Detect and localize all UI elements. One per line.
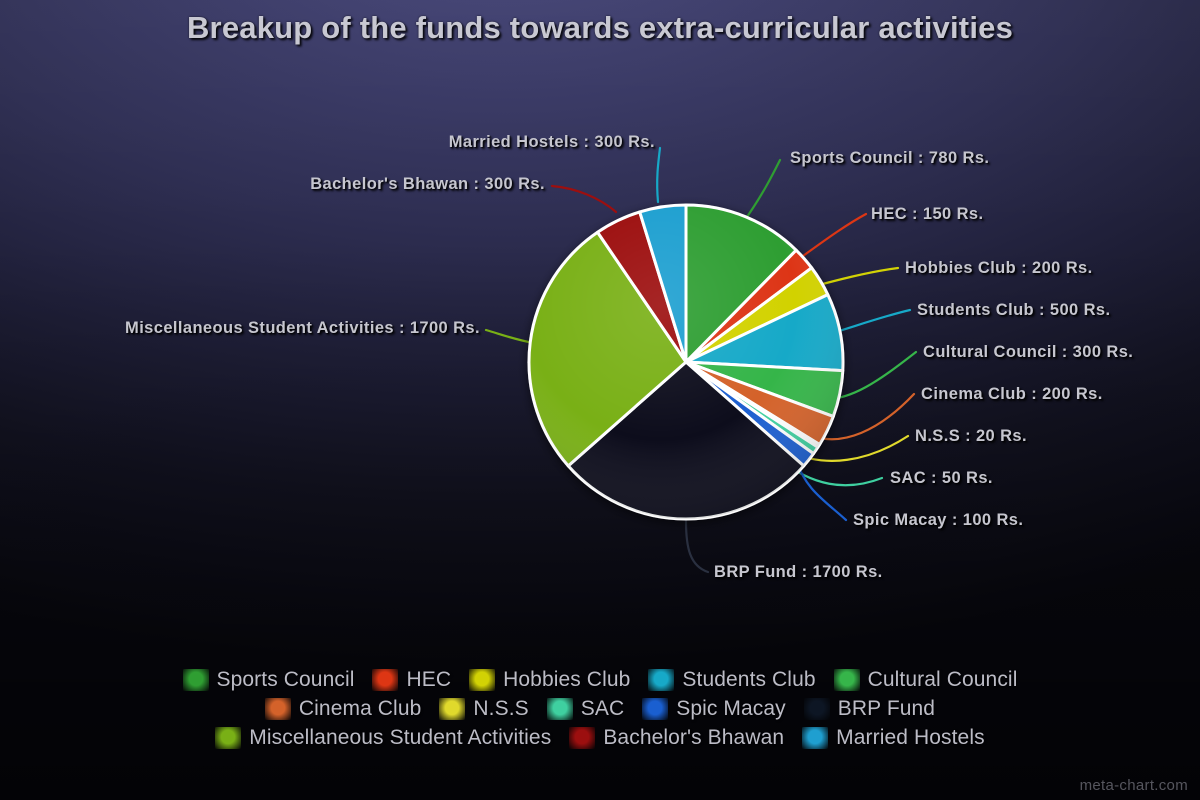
callout-label-married_hostels: Married Hostels : 300 Rs.: [449, 133, 655, 152]
legend-item[interactable]: SAC: [547, 697, 624, 721]
legend-label: BRP Fund: [838, 697, 935, 721]
legend: Sports CouncilHECHobbies ClubStudents Cl…: [0, 668, 1200, 750]
legend-item[interactable]: Sports Council: [183, 668, 355, 692]
legend-label: Miscellaneous Student Activities: [249, 726, 551, 750]
legend-color-swatch: [265, 698, 291, 720]
callout-label-bachelors_bhawan: Bachelor's Bhawan : 300 Rs.: [310, 175, 545, 194]
legend-color-swatch: [569, 727, 595, 749]
legend-item[interactable]: Spic Macay: [642, 697, 786, 721]
callout-label-brp_fund: BRP Fund : 1700 Rs.: [714, 563, 883, 582]
legend-color-swatch: [215, 727, 241, 749]
legend-color-swatch: [372, 669, 398, 691]
legend-color-swatch: [547, 698, 573, 720]
callout-label-students_club: Students Club : 500 Rs.: [917, 301, 1110, 320]
legend-label: Spic Macay: [676, 697, 786, 721]
legend-label: Married Hostels: [836, 726, 985, 750]
legend-item[interactable]: Cultural Council: [834, 668, 1018, 692]
legend-label: N.S.S: [473, 697, 528, 721]
page-title: Breakup of the funds towards extra-curri…: [0, 10, 1200, 46]
legend-item[interactable]: Miscellaneous Student Activities: [215, 726, 551, 750]
legend-item[interactable]: N.S.S: [439, 697, 528, 721]
legend-item[interactable]: Bachelor's Bhawan: [569, 726, 784, 750]
chart-canvas: Breakup of the funds towards extra-curri…: [0, 0, 1200, 800]
legend-color-swatch: [642, 698, 668, 720]
callout-label-cultural_council: Cultural Council : 300 Rs.: [923, 343, 1133, 362]
callout-label-cinema_club: Cinema Club : 200 Rs.: [921, 385, 1103, 404]
legend-color-swatch: [648, 669, 674, 691]
callout-label-sports_council: Sports Council : 780 Rs.: [790, 149, 989, 168]
legend-label: Cinema Club: [299, 697, 422, 721]
legend-color-swatch: [804, 698, 830, 720]
legend-item[interactable]: BRP Fund: [804, 697, 935, 721]
legend-label: SAC: [581, 697, 624, 721]
legend-color-swatch: [802, 727, 828, 749]
callout-label-nss: N.S.S : 20 Rs.: [915, 427, 1027, 446]
watermark: meta-chart.com: [1080, 777, 1188, 794]
legend-label: Students Club: [682, 668, 815, 692]
legend-label: Bachelor's Bhawan: [603, 726, 784, 750]
legend-item[interactable]: Cinema Club: [265, 697, 422, 721]
legend-row: Miscellaneous Student ActivitiesBachelor…: [206, 726, 993, 750]
callout-label-sac: SAC : 50 Rs.: [890, 469, 993, 488]
legend-row: Cinema ClubN.S.SSACSpic MacayBRP Fund: [256, 697, 944, 721]
legend-color-swatch: [469, 669, 495, 691]
legend-color-swatch: [439, 698, 465, 720]
legend-label: Hobbies Club: [503, 668, 630, 692]
legend-item[interactable]: Married Hostels: [802, 726, 985, 750]
legend-item[interactable]: Hobbies Club: [469, 668, 630, 692]
legend-label: Cultural Council: [868, 668, 1018, 692]
callout-label-spic_macay: Spic Macay : 100 Rs.: [853, 511, 1023, 530]
legend-row: Sports CouncilHECHobbies ClubStudents Cl…: [174, 668, 1027, 692]
legend-label: Sports Council: [217, 668, 355, 692]
callout-label-hec: HEC : 150 Rs.: [871, 205, 984, 224]
legend-item[interactable]: Students Club: [648, 668, 815, 692]
legend-label: HEC: [406, 668, 451, 692]
callout-label-hobbies_club: Hobbies Club : 200 Rs.: [905, 259, 1093, 278]
callout-label-miscellaneous: Miscellaneous Student Activities : 1700 …: [125, 319, 480, 338]
legend-item[interactable]: HEC: [372, 668, 451, 692]
legend-color-swatch: [183, 669, 209, 691]
legend-color-swatch: [834, 669, 860, 691]
